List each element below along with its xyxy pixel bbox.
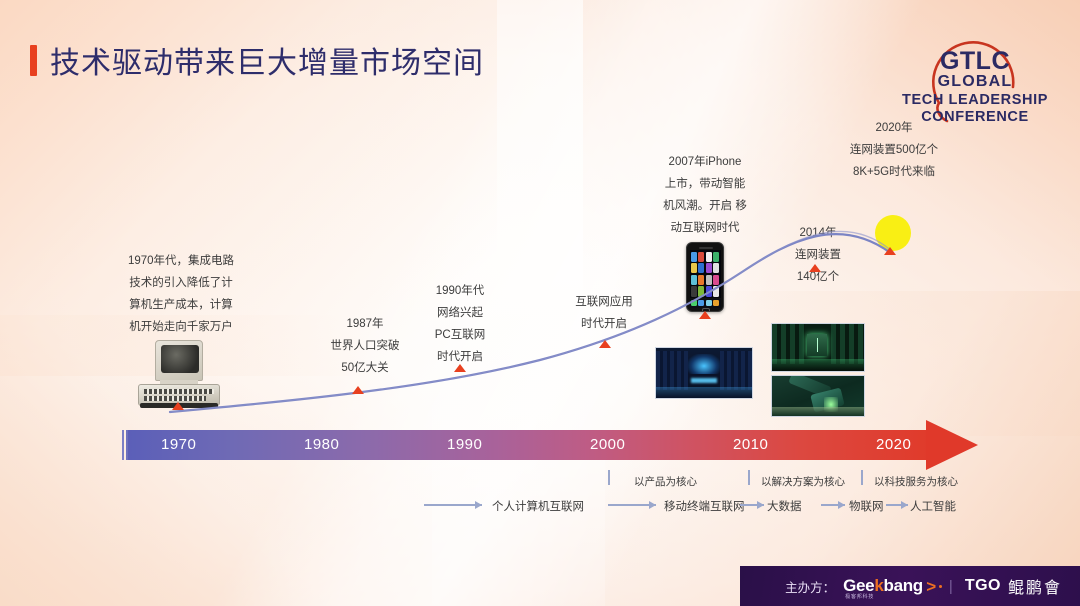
geekbang-dot-icon (939, 585, 942, 588)
era-stage-mobile-internet: 移动终端互联网 (664, 498, 745, 514)
timeline-gradient-bar (128, 430, 928, 460)
curve-marker-2000 (599, 340, 611, 348)
kunpeng-logo: 鲲鹏會 (1008, 574, 1062, 598)
timeline-start-tick-1 (122, 430, 124, 460)
footer-sponsor-bar: 主办方： Geekbang>极客邦科技 | TGO 鲲鹏會 (740, 566, 1080, 606)
curve-marker-1970 (172, 402, 184, 410)
growth-curve-line (170, 234, 892, 412)
era-divider-2 (748, 470, 750, 485)
era-focus-product: 以产品为核心 (634, 474, 697, 489)
footer-host-label: 主办方： (785, 577, 835, 596)
timeline-start-tick-2 (126, 430, 128, 460)
timeline-year-2010: 2010 (733, 436, 768, 453)
era-stage-pc-internet: 个人计算机互联网 (492, 498, 584, 514)
curve-marker-2014 (809, 264, 821, 272)
geekbang-logo: Geekbang>极客邦科技 (843, 576, 923, 596)
timeline-year-1980: 1980 (304, 436, 339, 453)
era-focus-solution: 以解决方案为核心 (761, 474, 845, 489)
era-arrow-5 (886, 500, 908, 509)
timeline-year-1990: 1990 (447, 436, 482, 453)
era-arrow-2 (608, 500, 656, 509)
timeline-year-2000: 2000 (590, 436, 625, 453)
geekbang-subtitle: 极客邦科技 (845, 593, 874, 600)
tgo-logo: TGO (965, 577, 1001, 595)
curve-marker-1990 (454, 364, 466, 372)
footer-separator: | (949, 578, 953, 595)
era-focus-service: 以科技服务为核心 (874, 474, 958, 489)
era-stage-iot: 物联网 (849, 498, 884, 514)
era-arrow-4 (821, 500, 845, 509)
growth-curve-line-highlight (170, 231, 893, 412)
era-arrow-1 (424, 500, 482, 509)
geekbang-caret-icon: > (926, 577, 936, 597)
growth-curve (0, 0, 1080, 606)
era-divider-3 (861, 470, 863, 485)
curve-marker-2007 (699, 311, 711, 319)
era-arrow-3 (740, 500, 764, 509)
curve-marker-2020 (884, 247, 896, 255)
era-stage-ai: 人工智能 (910, 498, 956, 514)
timeline-axis: 1970 1980 1990 2000 2010 2020 (128, 430, 978, 460)
timeline-year-1970: 1970 (161, 436, 196, 453)
geekbang-bang: bang (883, 576, 922, 595)
era-stage-big-data: 大数据 (767, 498, 802, 514)
timeline-arrowhead (926, 420, 978, 470)
curve-marker-1987 (352, 386, 364, 394)
timeline-year-2020: 2020 (876, 436, 911, 453)
era-divider-1 (608, 470, 610, 485)
